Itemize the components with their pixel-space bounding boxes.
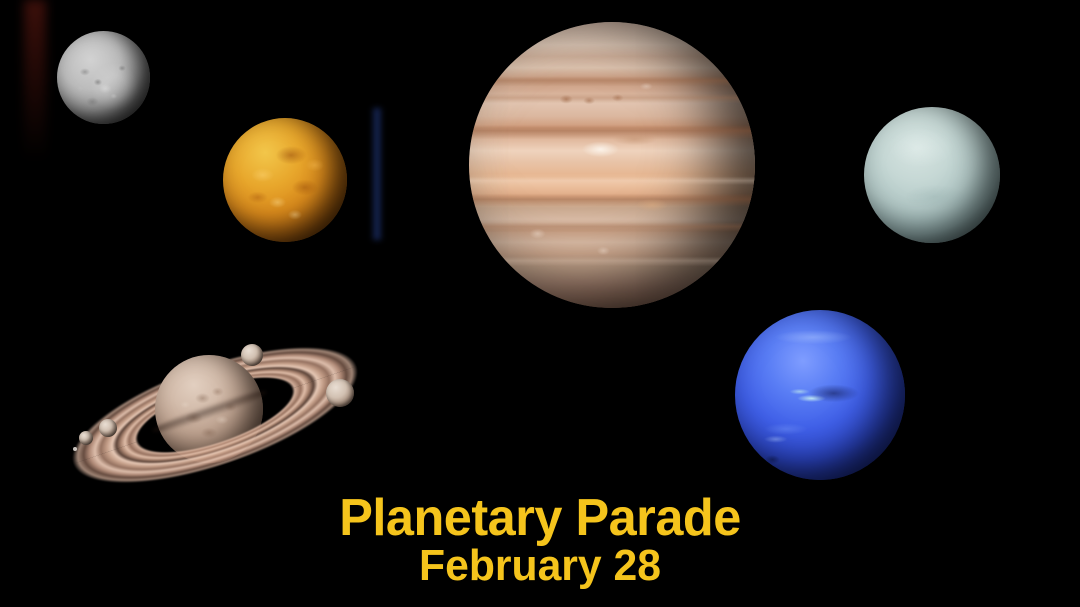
uranus-atmospheric-haze: [864, 107, 1000, 243]
poster-canvas: Planetary Parade February 28: [0, 0, 1080, 607]
title-block: Planetary Parade February 28: [0, 492, 1080, 589]
jupiter-storm-spots: [469, 22, 755, 308]
saturn-moon-left-outer: [79, 431, 93, 445]
red-vertical-band-artifact: [24, 0, 46, 160]
mercury-planet: [57, 31, 150, 124]
saturn-ring-bands-front: [57, 319, 373, 511]
blue-seam-artifact: [371, 108, 383, 240]
star-dot-1: [73, 447, 77, 451]
saturn-moon-right: [326, 379, 354, 407]
uranus-planet: [864, 107, 1000, 243]
jupiter-planet: [469, 22, 755, 308]
saturn-system: [60, 330, 370, 500]
saturn-rings-front: [57, 319, 373, 511]
saturn-moon-left-inner: [99, 419, 117, 437]
venus-planet: [223, 118, 347, 242]
neptune-planet: [735, 310, 905, 480]
page-subtitle: February 28: [16, 543, 1064, 589]
mercury-craters: [57, 31, 150, 124]
saturn-moon-upper-left: [241, 344, 263, 366]
venus-surface-mottling: [223, 118, 347, 242]
neptune-cloud-features: [735, 310, 905, 480]
